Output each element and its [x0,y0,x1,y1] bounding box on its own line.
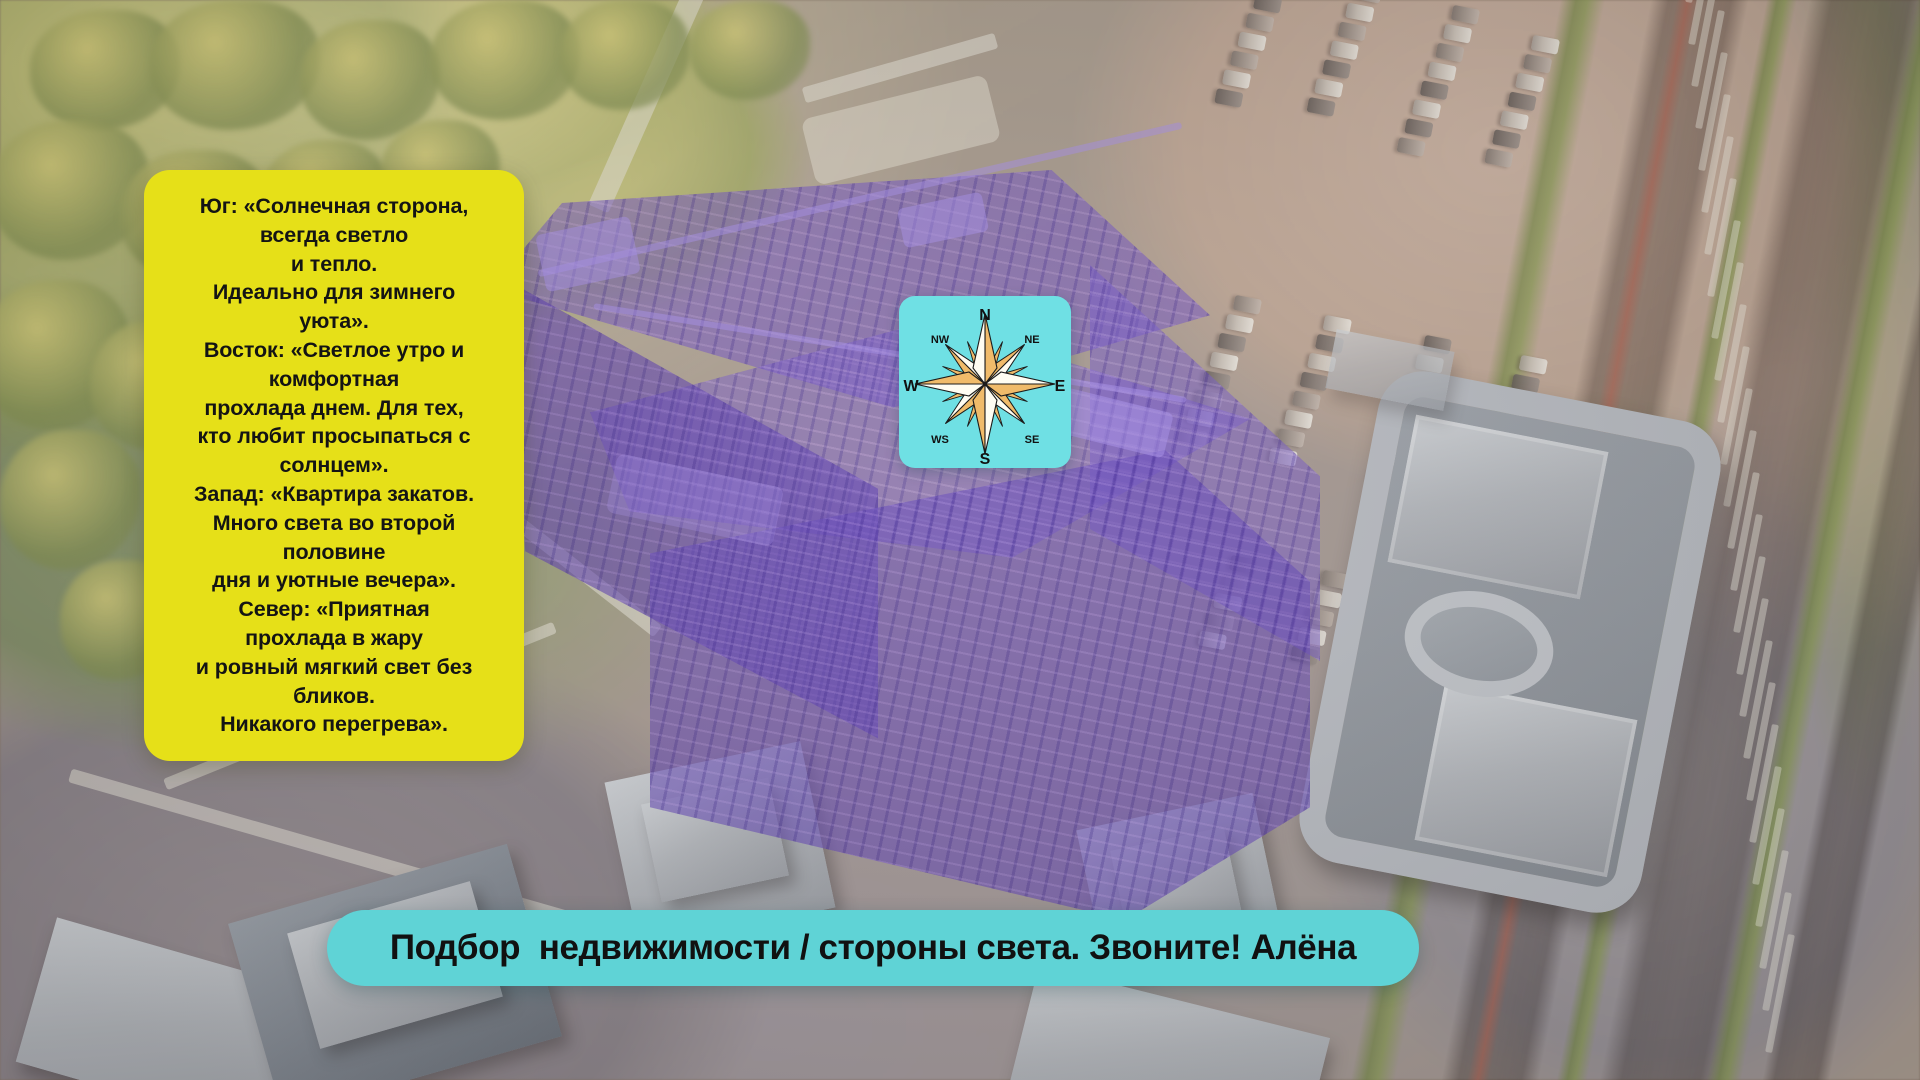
contact-banner-text: Подбор недвижимости / стороны света. Зво… [390,928,1356,968]
compass-label-s: S [980,451,991,468]
orientation-benefits-card: Юг: «Солнечная сторона, всегда светло и … [144,170,524,761]
compass-label-n: N [979,307,991,324]
compass-label-se: SE [1025,434,1040,446]
compass-label-e: E [1055,378,1066,395]
compass-label-ne: NE [1024,334,1039,346]
compass-label-w: W [903,378,919,395]
contact-banner[interactable]: Подбор недвижимости / стороны света. Зво… [327,910,1419,986]
compass-rose: N S W E NW NE WS SE [899,296,1071,468]
compass-label-nw: NW [931,334,950,346]
image-canvas: Юг: «Солнечная сторона, всегда светло и … [0,0,1920,1080]
compass-label-ws: WS [931,434,949,446]
highlighted-building [470,170,1300,900]
